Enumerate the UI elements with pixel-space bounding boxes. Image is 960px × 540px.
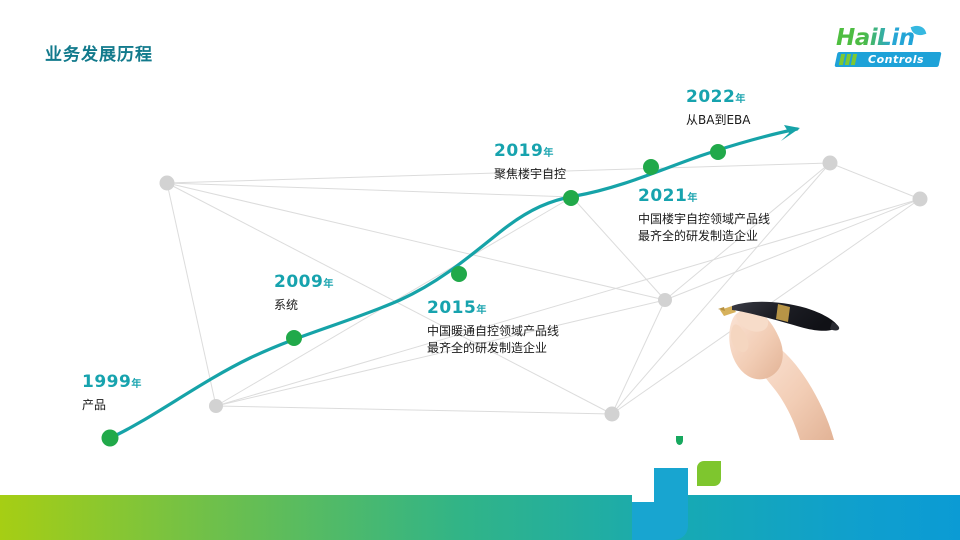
milestone-dot-1999 [102,430,119,447]
milestone-label-2019: 2019年 聚焦楼宇自控 [494,141,566,183]
milestone-year-suffix-2022: 年 [735,94,745,105]
milestone-desc-line-1: 中国暖通自控领域产品线 [427,323,559,340]
milestone-dot-2019 [563,190,579,206]
milestone-desc-line-2: 最齐全的研发制造企业 [427,340,559,357]
milestone-year-2015: 2015 [427,298,476,318]
decoration-square-green-large [697,461,721,486]
milestone-label-2022: 2022年 从BA到EBA [686,87,750,129]
milestone-year-2021: 2021 [638,186,687,206]
milestone-year-suffix-2009: 年 [323,279,333,290]
growth-curve-graphic [0,0,960,540]
hand-holding-pen-icon [700,282,880,442]
milestone-year-2022: 2022 [686,87,735,107]
milestone-dot-2015 [451,266,467,282]
decoration-shape-blue-notch [632,468,654,502]
slide-canvas: 业务发展历程 HaiLin Controls [0,0,960,540]
milestone-year-2019: 2019 [494,141,543,161]
milestone-desc-2015: 中国暖通自控领域产品线 最齐全的研发制造企业 [427,323,559,357]
bottom-gradient-bar [0,495,960,540]
growth-curve-path [110,129,797,438]
milestone-label-2015: 2015年 中国暖通自控领域产品线 最齐全的研发制造企业 [427,298,559,357]
milestone-label-2021: 2021年 中国楼宇自控领域产品线 最齐全的研发制造企业 [638,186,770,245]
milestone-desc-2021: 中国楼宇自控领域产品线 最齐全的研发制造企业 [638,211,770,245]
milestone-label-2009: 2009年 系统 [274,272,333,314]
milestone-desc-1999: 产品 [82,397,141,414]
decoration-dot-top [676,436,683,445]
milestone-desc-2019: 聚焦楼宇自控 [494,166,566,183]
milestone-year-suffix-1999: 年 [131,379,141,390]
milestone-label-1999: 1999年 产品 [82,372,141,414]
milestone-dot-2009 [286,330,302,346]
milestone-desc-line-1: 中国楼宇自控领域产品线 [638,211,770,228]
milestone-desc-2009: 系统 [274,297,333,314]
milestone-dots [102,144,727,447]
milestone-desc-line-2: 最齐全的研发制造企业 [638,228,770,245]
milestone-year-suffix-2019: 年 [543,148,553,159]
milestone-year-suffix-2021: 年 [687,193,697,204]
milestone-year-1999: 1999 [82,372,131,392]
milestone-desc-2022: 从BA到EBA [686,112,750,129]
milestone-dot-2022 [710,144,726,160]
milestone-year-2009: 2009 [274,272,323,292]
milestone-dot-2021 [643,159,659,175]
milestone-year-suffix-2015: 年 [476,305,486,316]
